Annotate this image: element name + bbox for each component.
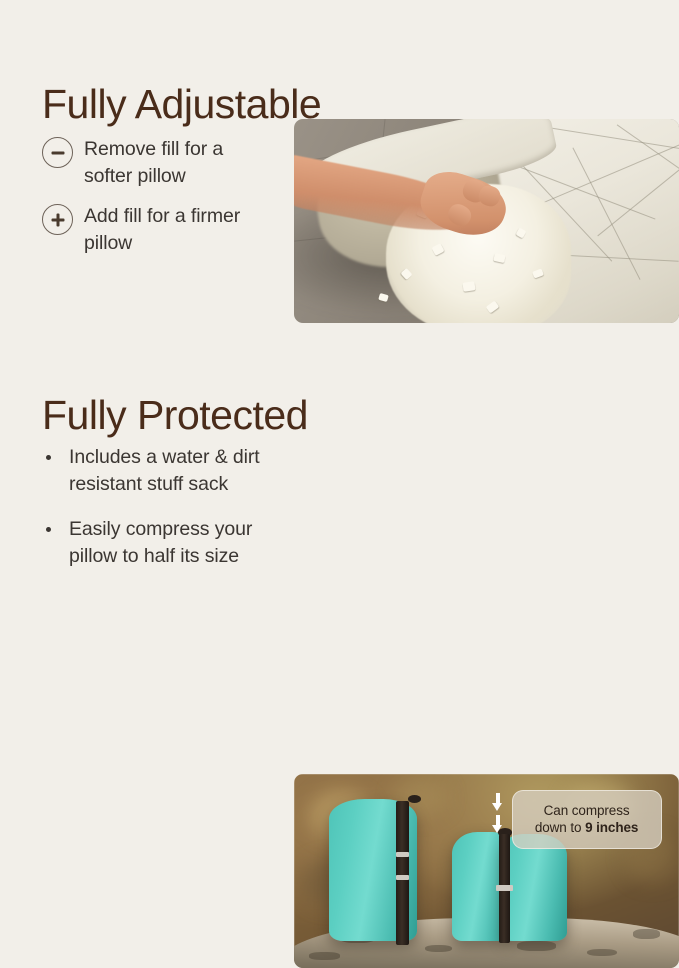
plus-icon: [42, 204, 73, 235]
callout-line-2-prefix: down to: [535, 820, 585, 835]
bullet-dot-icon: [42, 516, 60, 543]
feature-list-protected: Includes a water & dirt resistant stuff …: [42, 444, 282, 588]
list-item: Includes a water & dirt resistant stuff …: [42, 444, 282, 497]
bullet-dot-icon: [42, 444, 60, 471]
feature-list-adjustable: Remove fill for a softer pillow Add fill…: [42, 136, 282, 270]
page-title-fully-protected: Fully Protected: [42, 395, 308, 436]
list-item-label: Add fill for a firmer pillow: [84, 203, 259, 256]
page-title-fully-adjustable: Fully Adjustable: [42, 84, 321, 125]
stuff-sack-scene: Can compress down to 9 inches: [294, 774, 679, 968]
stuff-sack-photo: Can compress down to 9 inches: [294, 774, 679, 968]
infographic-page: Fully Adjustable Remove fill for a softe…: [0, 0, 679, 679]
callout-line-1: Can compress: [544, 803, 630, 818]
list-item-label: Remove fill for a softer pillow: [84, 136, 259, 189]
section-fully-adjustable: Fully Adjustable Remove fill for a softe…: [0, 0, 679, 340]
down-arrow-icon: [492, 815, 503, 833]
down-arrow-icon: [492, 793, 503, 811]
list-item: Remove fill for a softer pillow: [42, 136, 282, 189]
list-item: Add fill for a firmer pillow: [42, 203, 282, 256]
list-item-label: Includes a water & dirt resistant stuff …: [69, 444, 274, 497]
pillow-fill-scene: [294, 119, 679, 323]
list-item: Easily compress your pillow to half its …: [42, 516, 282, 569]
callout-emphasis: 9 inches: [585, 820, 638, 835]
minus-icon: [42, 137, 73, 168]
section-fully-protected: Fully Protected Includes a water & dirt …: [0, 340, 679, 679]
list-item-label: Easily compress your pillow to half its …: [69, 516, 274, 569]
compression-callout: Can compress down to 9 inches: [512, 790, 662, 849]
pillow-fill-photo: [294, 119, 679, 323]
